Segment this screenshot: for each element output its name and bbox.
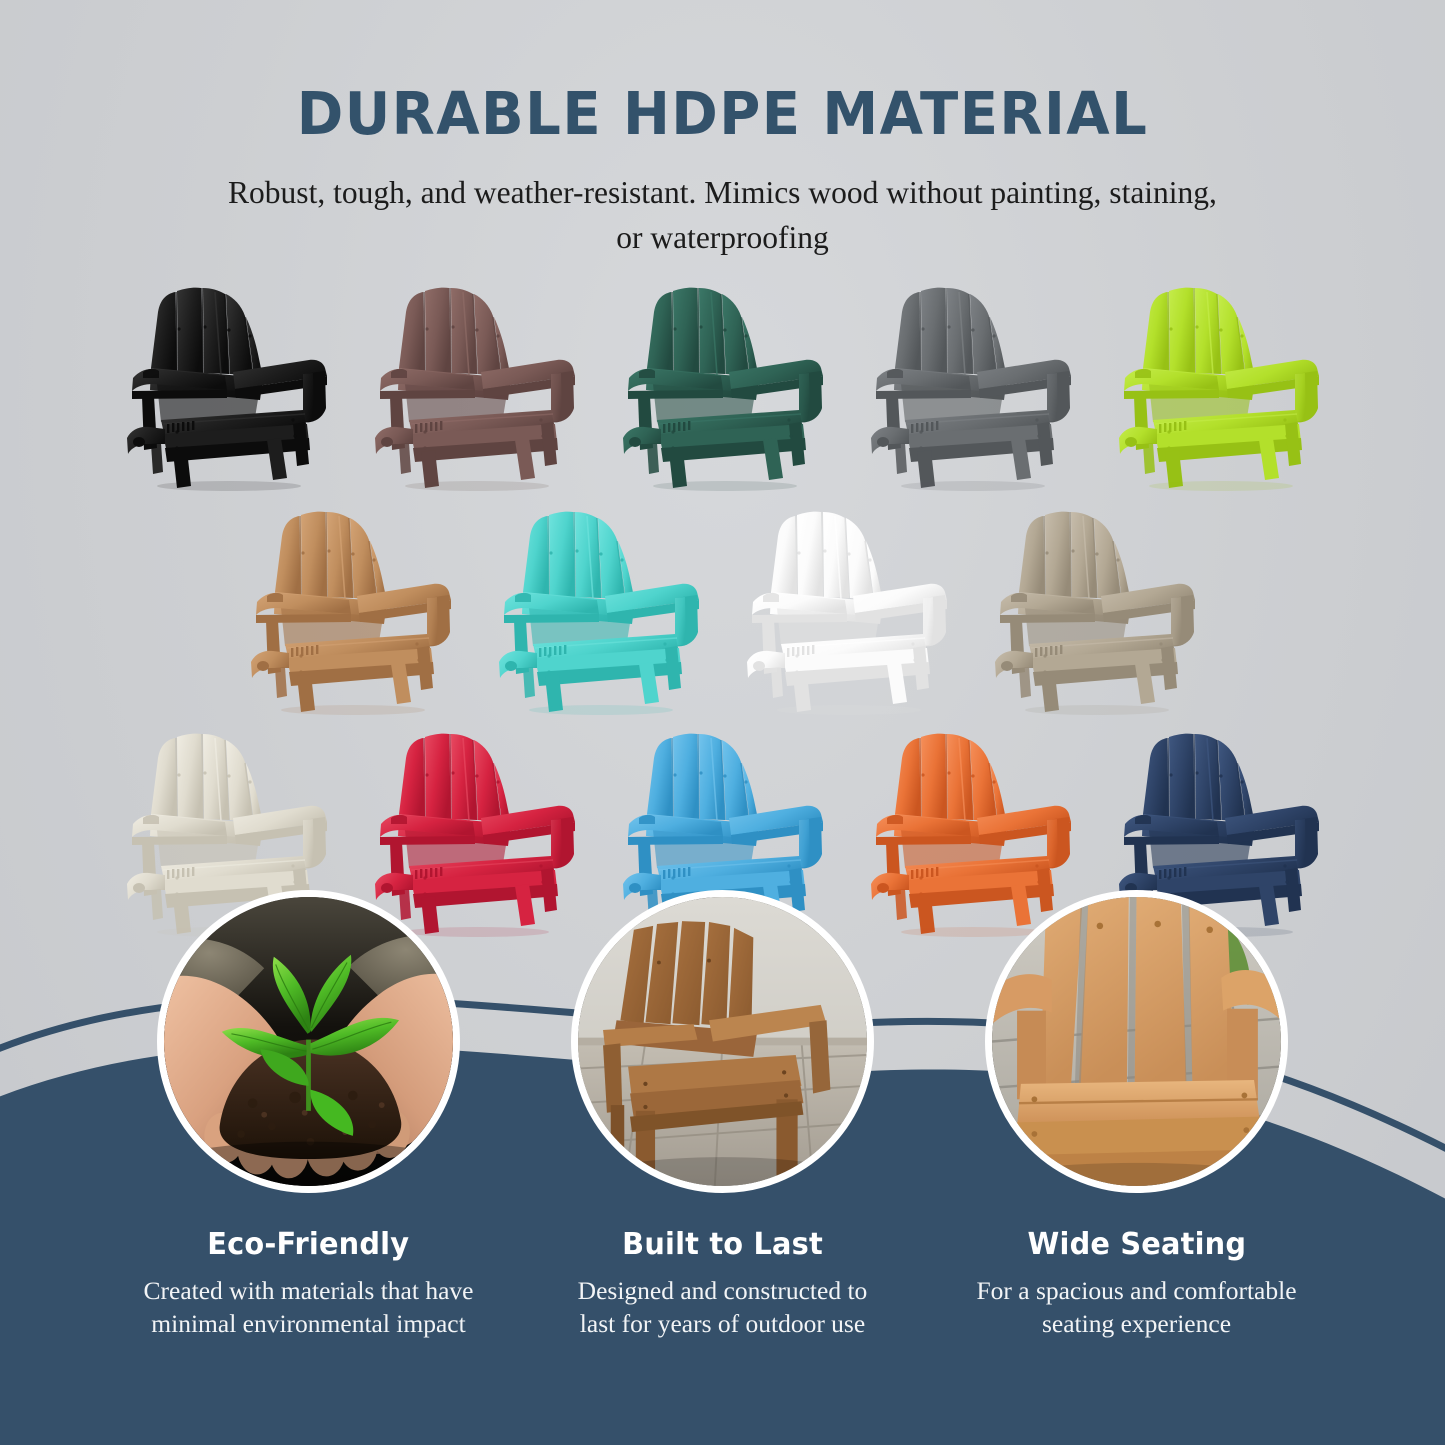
infographic-page: DURABLE HDPE MATERIAL Robust, tough, and…	[0, 0, 1445, 1445]
chair-svg	[985, 496, 1205, 712]
feature-section: Eco-Friendly Created with materials that…	[0, 890, 1445, 1341]
page-subtitle: Robust, tough, and weather-resistant. Mi…	[0, 171, 1445, 260]
page-title: DURABLE HDPE MATERIAL	[36, 84, 1409, 143]
chair-svg	[861, 272, 1081, 488]
chair-svg	[737, 496, 957, 712]
chair-swatch-white[interactable]	[737, 496, 957, 712]
chair-row-2	[0, 496, 1445, 712]
chair-svg	[117, 272, 337, 488]
feature-title: Eco-Friendly	[207, 1227, 409, 1262]
chair-svg	[1109, 272, 1329, 488]
chair-swatch-lime-green[interactable]	[1109, 272, 1329, 488]
header-block: DURABLE HDPE MATERIAL Robust, tough, and…	[0, 0, 1445, 260]
feature-image-wide-seating	[985, 890, 1288, 1193]
chair-swatch-brown[interactable]	[365, 272, 585, 488]
feature-description: Designed and constructed to last for yea…	[558, 1274, 888, 1341]
feature-item: Eco-Friendly Created with materials that…	[154, 890, 464, 1341]
feature-title: Built to Last	[622, 1227, 823, 1262]
chair-swatch-teak[interactable]	[241, 496, 461, 712]
chair-swatch-turquoise[interactable]	[489, 496, 709, 712]
chair-swatch-gray[interactable]	[861, 272, 1081, 488]
feature-image-eco	[157, 890, 460, 1193]
chair-swatch-weathered-wood[interactable]	[985, 496, 1205, 712]
feature-title: Wide Seating	[1027, 1227, 1246, 1262]
feature-item: Wide Seating For a spacious and comforta…	[982, 890, 1292, 1341]
chair-svg	[241, 496, 461, 712]
feature-item: Built to Last Designed and constructed t…	[568, 890, 878, 1341]
chair-svg	[489, 496, 709, 712]
chair-svg	[365, 272, 585, 488]
chair-color-grid	[0, 272, 1445, 934]
chair-swatch-dark-green[interactable]	[613, 272, 833, 488]
chair-row-1	[0, 272, 1445, 488]
chair-swatch-black[interactable]	[117, 272, 337, 488]
feature-description: For a spacious and comfortable seating e…	[972, 1274, 1302, 1341]
chair-svg	[613, 272, 833, 488]
feature-image-durability	[571, 890, 874, 1193]
feature-description: Created with materials that have minimal…	[144, 1274, 474, 1341]
